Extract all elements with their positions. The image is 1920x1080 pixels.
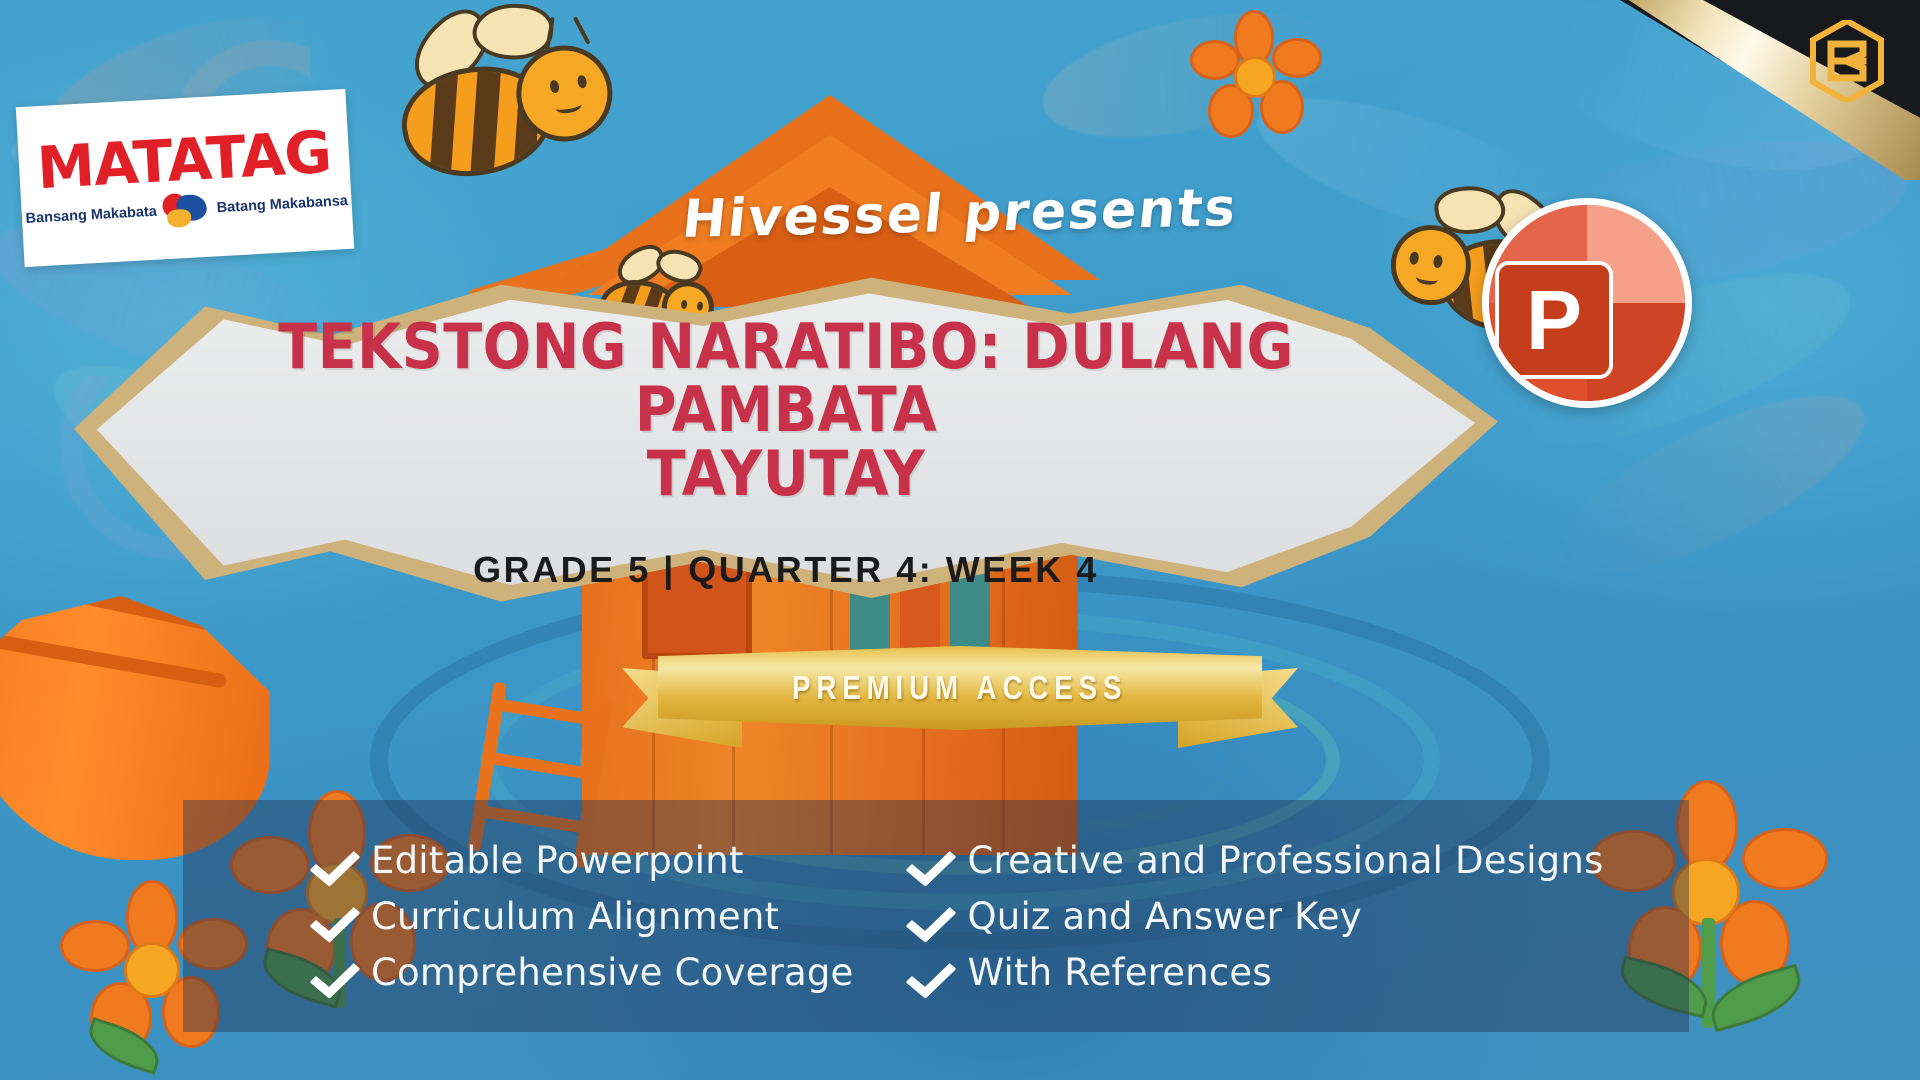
check-icon	[313, 950, 357, 994]
check-icon	[909, 894, 953, 938]
feature-item: Comprehensive Coverage	[313, 950, 853, 994]
feature-item: Editable Powerpoint	[313, 838, 853, 882]
feature-label: Creative and Professional Designs	[967, 839, 1603, 882]
hivessel-hexagon-logo	[1810, 20, 1884, 102]
premium-access-label: PREMIUM ACCESS	[792, 669, 1127, 707]
check-icon	[313, 894, 357, 938]
feature-item: Curriculum Alignment	[313, 894, 853, 938]
feature-item: Creative and Professional Designs	[909, 838, 1603, 882]
matatag-logo-card: MATATAG Bansang Makabata Batang Makabans…	[16, 89, 354, 267]
check-icon	[909, 950, 953, 994]
check-icon	[313, 838, 357, 882]
feature-label: With References	[967, 951, 1271, 994]
feature-label: Comprehensive Coverage	[371, 951, 853, 994]
feature-item: With References	[909, 950, 1603, 994]
features-column-left: Editable Powerpoint Curriculum Alignment…	[313, 838, 853, 994]
matatag-tagline-right: Batang Makabansa	[216, 193, 348, 216]
feature-label: Curriculum Alignment	[371, 895, 779, 938]
flower-illustration	[1190, 10, 1320, 140]
powerpoint-icon: P	[1482, 198, 1692, 408]
page-title: TEKSTONG NARATIBO: DULANG PAMBATA TAYUTA…	[131, 315, 1441, 505]
title-banner: TEKSTONG NARATIBO: DULANG PAMBATA TAYUTA…	[74, 256, 1498, 616]
clasped-hands-icon	[160, 189, 214, 230]
feature-label: Editable Powerpoint	[371, 839, 744, 882]
matatag-tagline-left: Bansang Makabata	[25, 203, 157, 226]
presentation-cover-slide: Hivessel presents MATATAG Bansang Makaba…	[0, 0, 1920, 1080]
features-column-right: Creative and Professional Designs Quiz a…	[909, 838, 1603, 994]
premium-access-ribbon: PREMIUM ACCESS	[630, 646, 1290, 750]
page-curl-corner	[1620, 0, 1920, 180]
powerpoint-letter: P	[1495, 261, 1613, 379]
feature-item: Quiz and Answer Key	[909, 894, 1603, 938]
presenter-label: Hivessel presents	[680, 178, 1241, 250]
grade-quarter-subtitle: GRADE 5 | QUARTER 4: WEEK 4	[473, 549, 1099, 591]
feature-label: Quiz and Answer Key	[967, 895, 1361, 938]
features-panel: Editable Powerpoint Curriculum Alignment…	[183, 800, 1689, 1032]
ribbon-band: PREMIUM ACCESS	[658, 646, 1262, 730]
check-icon	[909, 838, 953, 882]
